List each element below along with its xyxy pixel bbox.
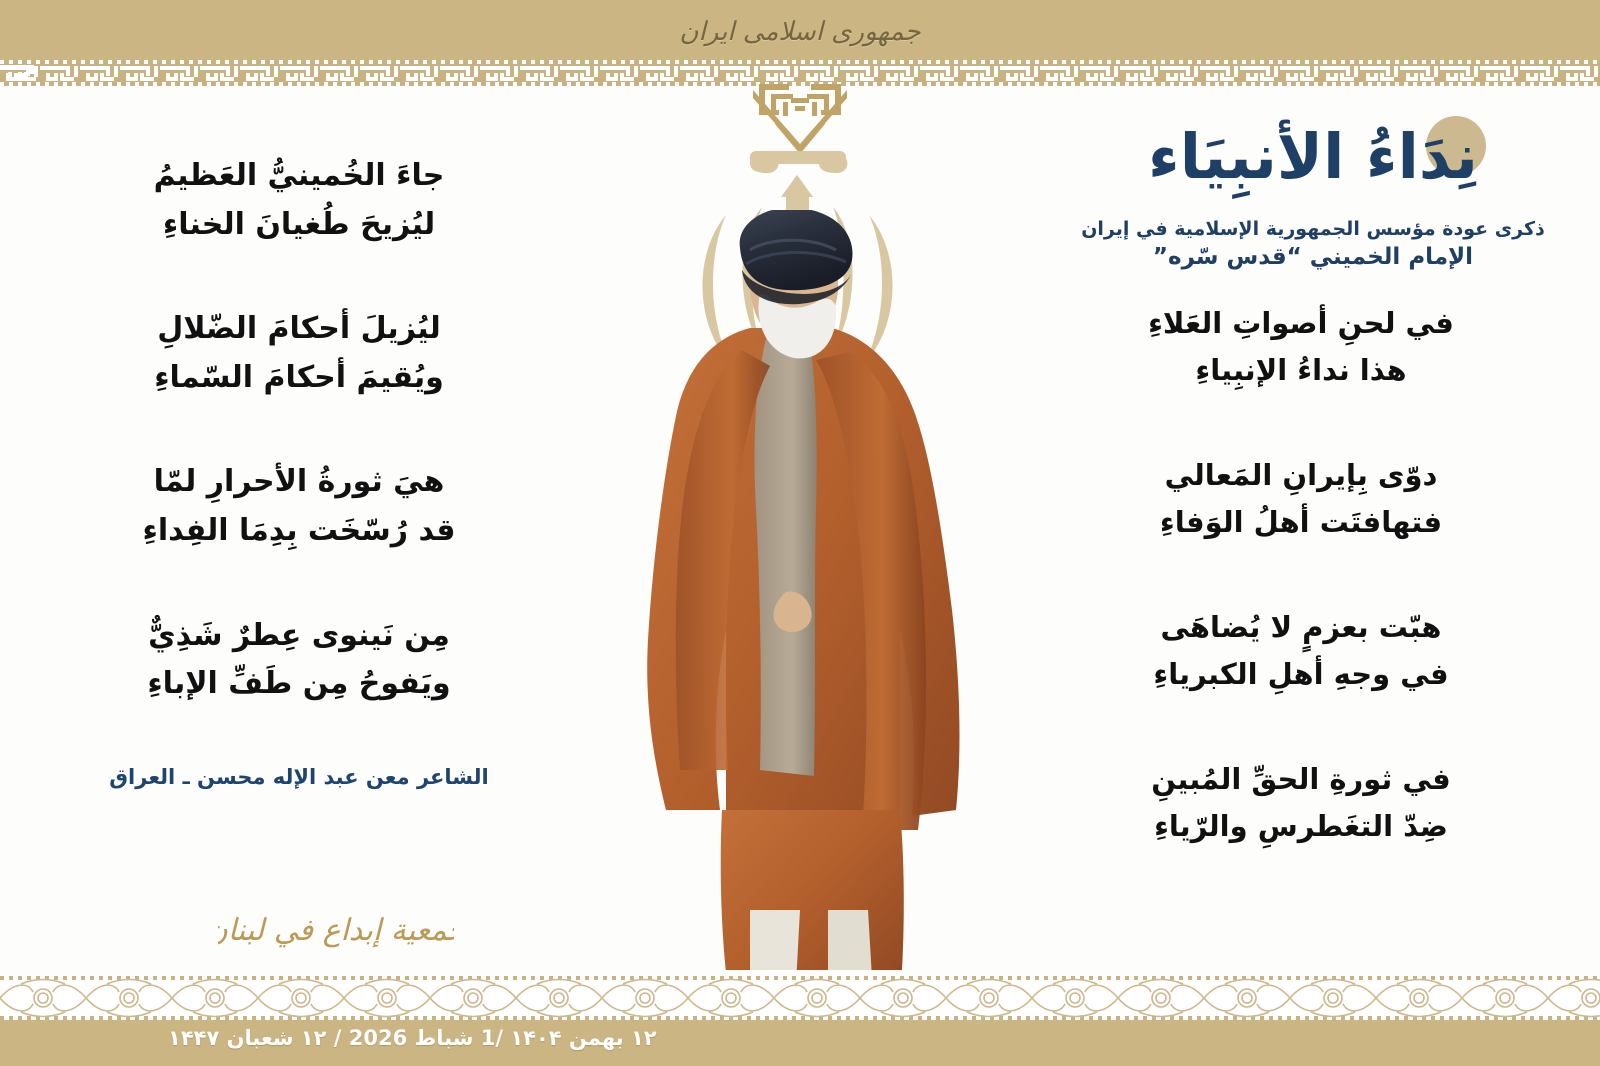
bottom-border-svg [0, 976, 1600, 1020]
poem-line: ويُقيمَ أحكامَ السّماءِ [84, 354, 514, 403]
bottom-floral-border [0, 976, 1600, 1020]
poem-line: ضِدّ التغَطرسِ والرّياءِ [1086, 803, 1516, 850]
logo-subtitle-1: ذكرى عودة مؤسس الجمهورية الإسلامية في إي… [1078, 218, 1548, 240]
poem-line: هيَ ثورةُ الأحرارِ لمّا [84, 458, 514, 507]
stanza: هبّت بعزمٍ لا يُضاهَى في وجهِ أهلِ الكبر… [1086, 604, 1516, 698]
stanza: دوّى بِإيرانِ المَعالي فتهافتَت أهلُ الو… [1086, 452, 1516, 546]
imam-khomeini-portrait [600, 210, 1000, 970]
top-kufic-border [0, 60, 1600, 86]
poem-line: في ثورةِ الحقِّ المُبينِ [1086, 756, 1516, 803]
poem-line: في وجهِ أهلِ الكبرياءِ [1086, 651, 1516, 698]
nida-al-anbiya-logo: نِدَاءُ الأنبِيَاء [1078, 108, 1548, 216]
poem-line: في لحنِ أصواتِ العَلاءِ [1086, 300, 1516, 347]
logo-subtitle-2: الإمام الخميني “قدس سّره” [1078, 244, 1548, 270]
top-gold-band [0, 0, 1600, 60]
date-bar: ۱۲ بهمن ۱۴۰۴ /1 شباط 2026 / ۱۲ شعبان ۱۴۴… [0, 1020, 1600, 1066]
poem-line: هذا نداءُ الإنبِياءِ [1086, 347, 1516, 394]
poem-line: ليُزيحَ طُغيانَ الخناءِ [84, 201, 514, 250]
seal-svg: جمعية إبداع في لبنان [218, 878, 454, 962]
stanza: ليُزيلَ أحكامَ الضّلالِ ويُقيمَ أحكامَ ا… [84, 305, 514, 402]
poem-column-right: في لحنِ أصواتِ العَلاءِ هذا نداءُ الإنبِ… [1086, 300, 1516, 908]
stanza: مِن نَينوى عِطرٌ شَذِيٌّ ويَفوحُ مِن طَف… [84, 612, 514, 709]
logo-block: نِدَاءُ الأنبِيَاء ذكرى عودة مؤسس الجمهو… [1078, 108, 1548, 270]
poem-line: قد رُسّخَت بِدِمَا الفِداءِ [84, 507, 514, 556]
portrait-svg [600, 210, 1000, 970]
kufic-meander-svg [0, 60, 1600, 86]
poem-line: مِن نَينوى عِطرٌ شَذِيٌّ [84, 612, 514, 661]
poem-line: دوّى بِإيرانِ المَعالي [1086, 452, 1516, 499]
poem-line: فتهافتَت أهلُ الوَفاءِ [1086, 499, 1516, 546]
stanza: جاءَ الخُمينيُّ العَظيمُ ليُزيحَ طُغيانَ… [84, 152, 514, 249]
poem-line: هبّت بعزمٍ لا يُضاهَى [1086, 604, 1516, 651]
poet-credit: الشاعر معن عبد الإله محسن ـ العراق [84, 765, 514, 789]
stanza: في ثورةِ الحقِّ المُبينِ ضِدّ التغَطرسِ … [1086, 756, 1516, 850]
stanza: هيَ ثورةُ الأحرارِ لمّا قد رُسّخَت بِدِم… [84, 458, 514, 555]
stanza: في لحنِ أصواتِ العَلاءِ هذا نداءُ الإنبِ… [1086, 300, 1516, 394]
logo-svg: نِدَاءُ الأنبِيَاء [1078, 108, 1548, 216]
jamiyat-ibdaa-seal: جمعية إبداع في لبنان [218, 878, 454, 962]
poem-line: ويَفوحُ مِن طَفِّ الإباءِ [84, 660, 514, 709]
seal-text: جمعية إبداع في لبنان [218, 913, 454, 948]
footer-date: ۱۲ بهمن ۱۴۰۴ /1 شباط 2026 / ۱۲ شعبان ۱۴۴… [168, 1026, 657, 1050]
poem-line: ليُزيلَ أحكامَ الضّلالِ [84, 305, 514, 354]
poster-canvas: جمهوری اسلامی ایران [0, 0, 1600, 1066]
poem-line: جاءَ الخُمينيُّ العَظيمُ [84, 152, 514, 201]
logo-title-text: نِدَاءُ الأنبِيَاء [1148, 119, 1478, 200]
poem-column-left: جاءَ الخُمينيُّ العَظيمُ ليُزيحَ طُغيانَ… [84, 152, 514, 789]
